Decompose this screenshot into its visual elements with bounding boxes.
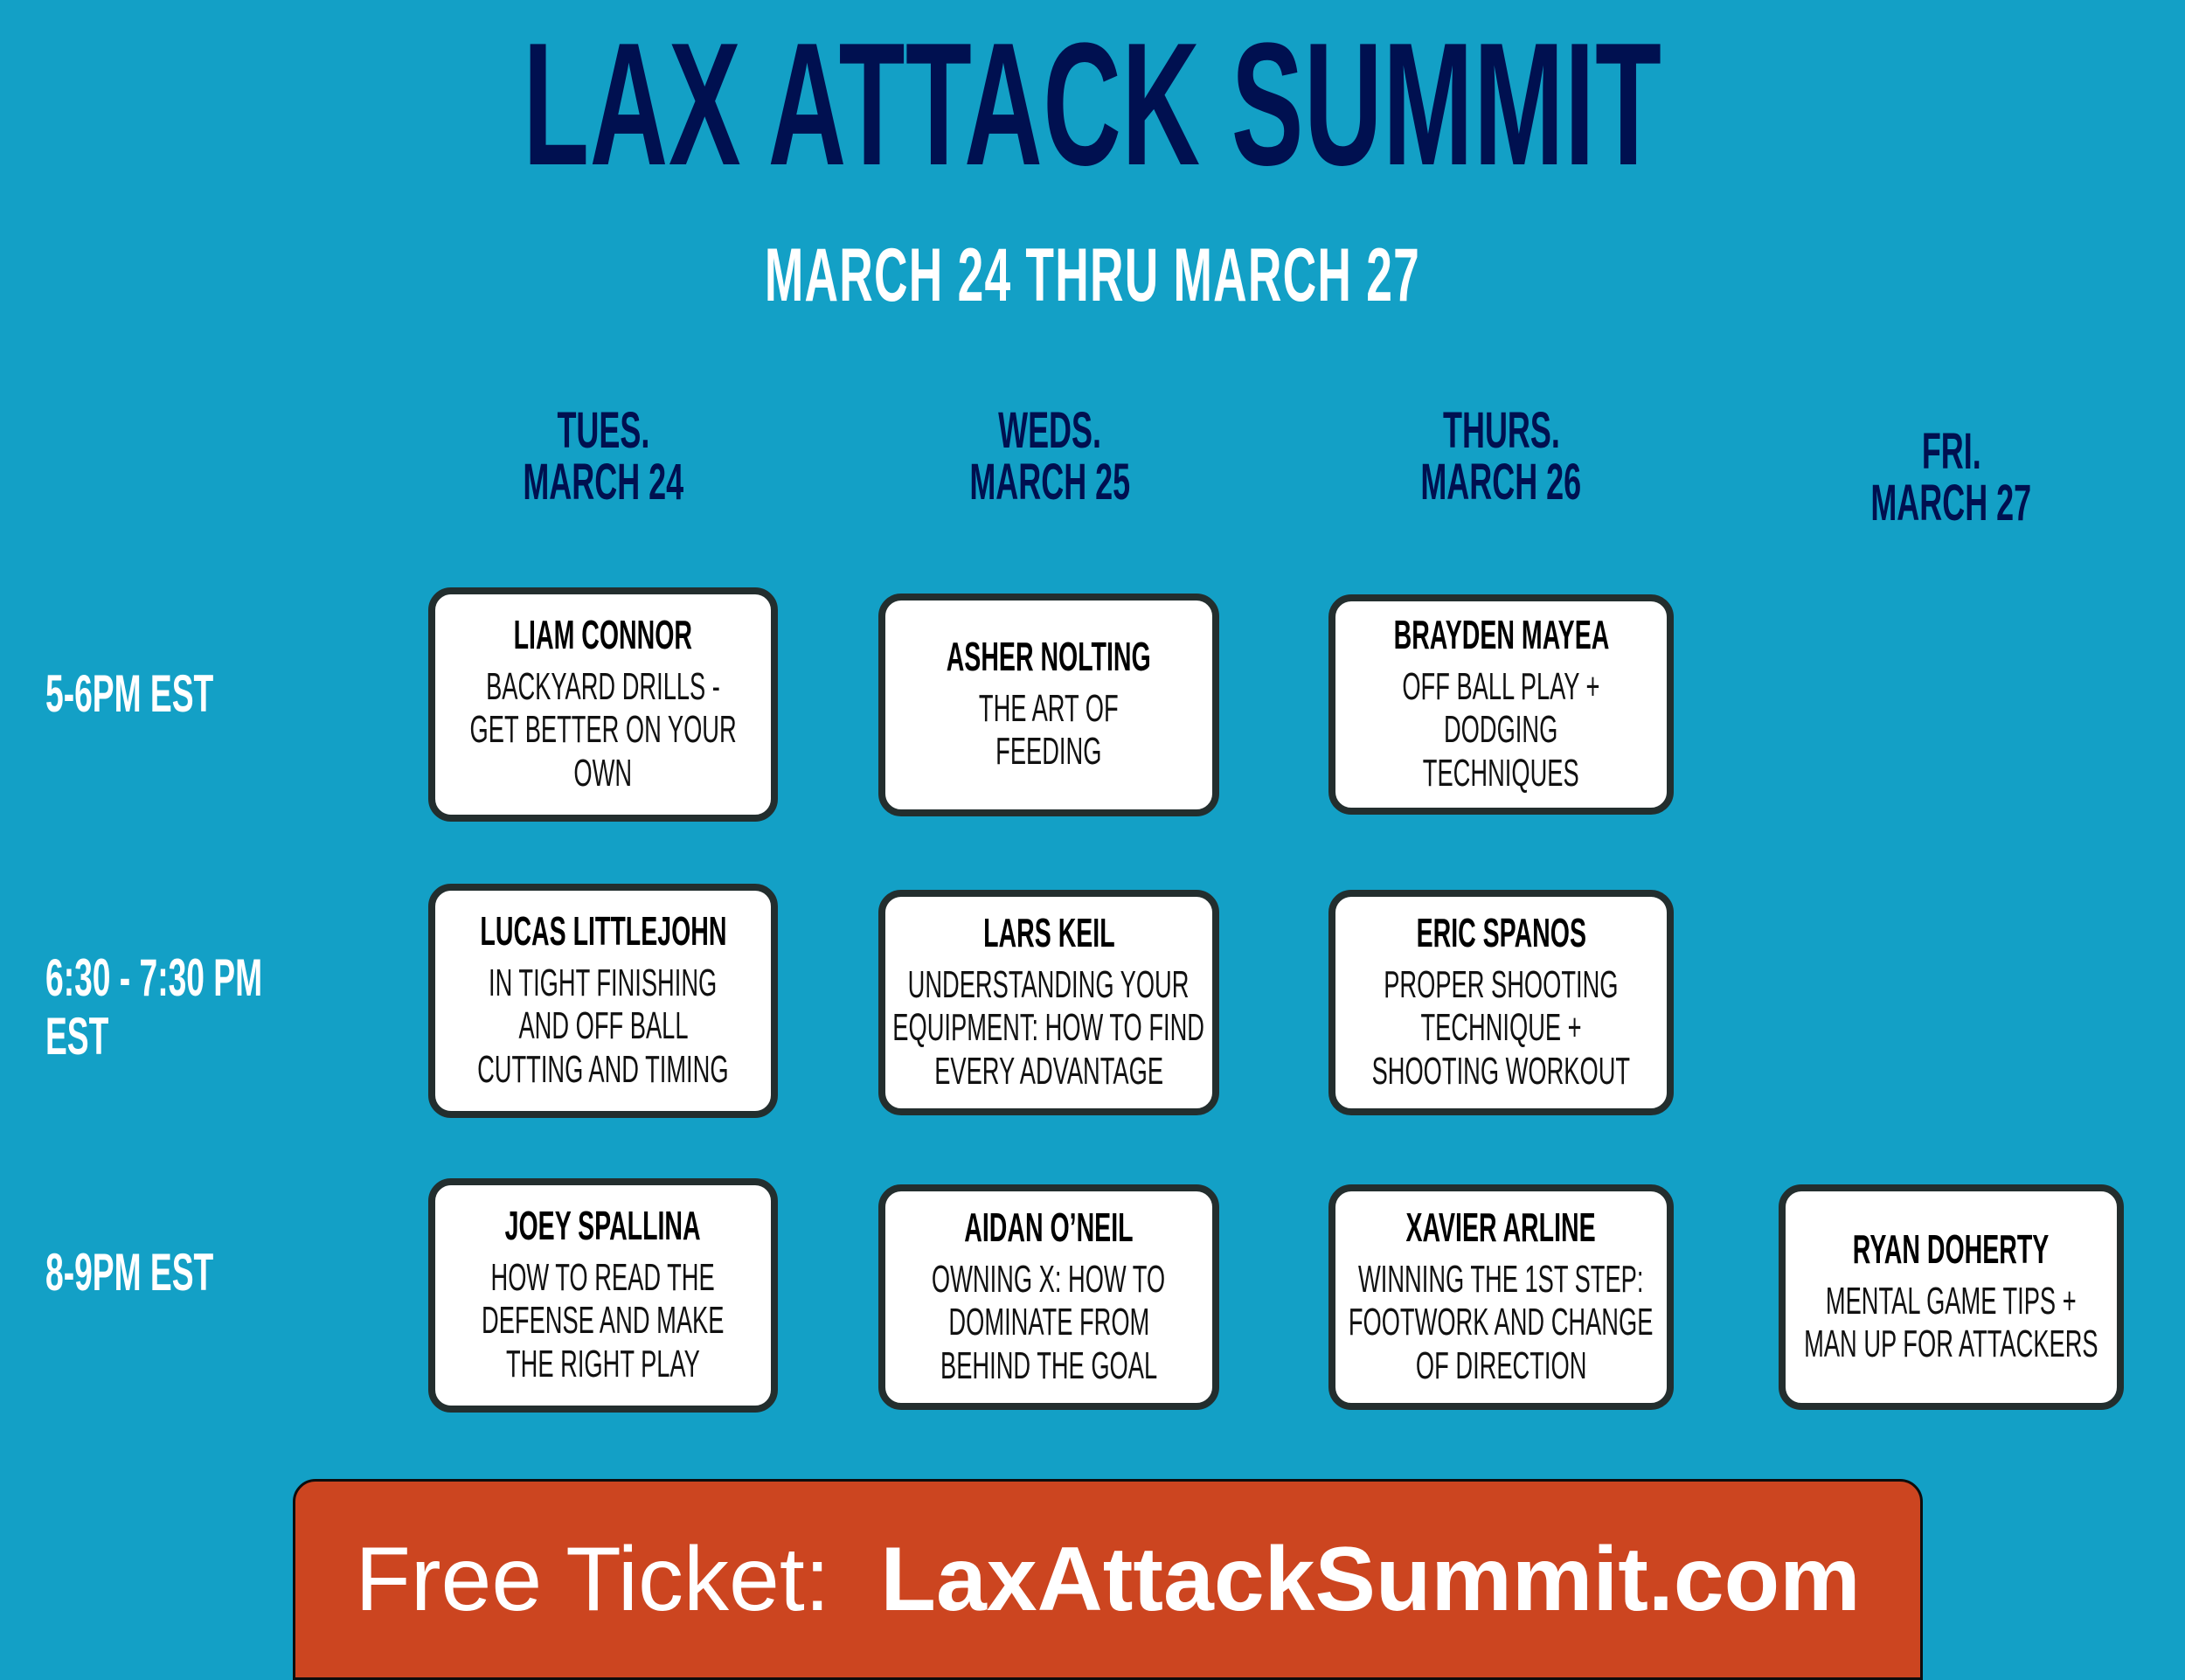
free-ticket-text: Free Ticket: LaxAttackSummit.com [355,1534,1860,1625]
session-topic: THE ART OF FEEDING [936,687,1162,774]
session-speaker: AIDAN O’NEIL [912,1207,1185,1249]
session-card[interactable]: AIDAN O’NEIL OWNING X: HOW TO DOMINATE F… [878,1184,1219,1410]
session-speaker: LIAM CONNOR [459,614,747,656]
day-header-date: MARCH 25 [969,456,1130,508]
time-label-text: 5-6PM EST [45,664,213,723]
page-subtitle-text: MARCH 24 THRU MARCH 27 [765,238,1420,313]
time-label-text: 6:30 - 7:30 PM EST [45,948,279,1066]
session-card[interactable]: JOEY SPALLINA HOW TO READ THE DEFENSE AN… [428,1178,778,1413]
session-topic: BACKYARD DRILLS - GET BETTER ON YOUR OWN [428,665,778,795]
page-subtitle: MARCH 24 THRU MARCH 27 [0,238,2185,313]
session-card[interactable]: XAVIER ARLINE WINNING THE 1ST STEP: FOOT… [1328,1184,1674,1410]
session-topic: HOW TO READ THE DEFENSE AND MAKE THE RIG… [428,1256,778,1385]
session-card[interactable]: BRAYDEN MAYEA OFF BALL PLAY + DODGING TE… [1328,594,1674,815]
session-speaker: LARS KEIL [943,913,1155,955]
session-speaker: BRAYDEN MAYEA [1328,614,1674,656]
session-speaker: JOEY SPALLINA [445,1205,760,1247]
day-header-date: MARCH 24 [523,456,683,508]
session-card[interactable]: LIAM CONNOR BACKYARD DRILLS - GET BETTER… [428,587,778,822]
session-card[interactable]: ASHER NOLTING THE ART OF FEEDING [878,594,1219,816]
session-speaker: RYAN DOHERTY [1793,1229,2109,1271]
session-topic: IN TIGHT FINISHING AND OFF BALL CUTTING … [428,961,778,1091]
session-speaker: XAVIER ARLINE [1348,1207,1654,1249]
free-ticket-banner[interactable]: Free Ticket: LaxAttackSummit.com [293,1479,1923,1680]
session-topic: WINNING THE 1ST STEP: FOOTWORK AND CHANG… [1328,1258,1674,1387]
session-topic: OWNING X: HOW TO DOMINATE FROM BEHIND TH… [878,1258,1219,1387]
session-topic: OFF BALL PLAY + DODGING TECHNIQUES [1342,665,1661,795]
page-title: LAX ATTACK SUMMIT [0,17,2185,192]
session-topic: PROPER SHOOTING TECHNIQUE + SHOOTING WOR… [1328,963,1674,1093]
session-speaker: LUCAS LITTLEJOHN [428,911,778,953]
day-header-weekday: FRI. [1922,426,1981,477]
page-title-text: LAX ATTACK SUMMIT [523,17,1661,192]
day-header-wednesday: WEDS. MARCH 25 [878,405,1221,508]
day-header-friday: FRI. MARCH 27 [1779,426,2124,529]
time-label-row-3: 8-9PM EST [45,1243,395,1302]
time-label-text: 8-9PM EST [45,1243,213,1302]
session-card[interactable]: LARS KEIL UNDERSTANDING YOUR EQUIPMENT: … [878,890,1219,1115]
day-header-date: MARCH 27 [1871,477,2032,529]
session-card[interactable]: LUCAS LITTLEJOHN IN TIGHT FINISHING AND … [428,884,778,1118]
day-header-weekday: WEDS. [998,405,1101,456]
time-label-row-1: 5-6PM EST [45,664,395,723]
session-speaker: ASHER NOLTING [884,636,1213,678]
session-topic: MENTAL GAME TIPS + MAN UP FOR ATTACKERS [1779,1280,2124,1366]
session-speaker: ERIC SPANOS [1364,913,1639,955]
session-card[interactable]: RYAN DOHERTY MENTAL GAME TIPS + MAN UP F… [1779,1184,2124,1410]
day-header-date: MARCH 26 [1421,456,1582,508]
time-label-row-2: 6:30 - 7:30 PM EST [45,948,421,1066]
free-ticket-lead: Free Ticket: [355,1529,855,1630]
day-header-thursday: THURS. MARCH 26 [1328,405,1674,508]
session-card[interactable]: ERIC SPANOS PROPER SHOOTING TECHNIQUE + … [1328,890,1674,1115]
day-header-weekday: THURS. [1443,405,1560,456]
day-header-tuesday: TUES. MARCH 24 [428,405,778,508]
session-topic: UNDERSTANDING YOUR EQUIPMENT: HOW TO FIN… [878,963,1219,1093]
free-ticket-url[interactable]: LaxAttackSummit.com [880,1529,1860,1630]
day-header-weekday: TUES. [557,405,649,456]
